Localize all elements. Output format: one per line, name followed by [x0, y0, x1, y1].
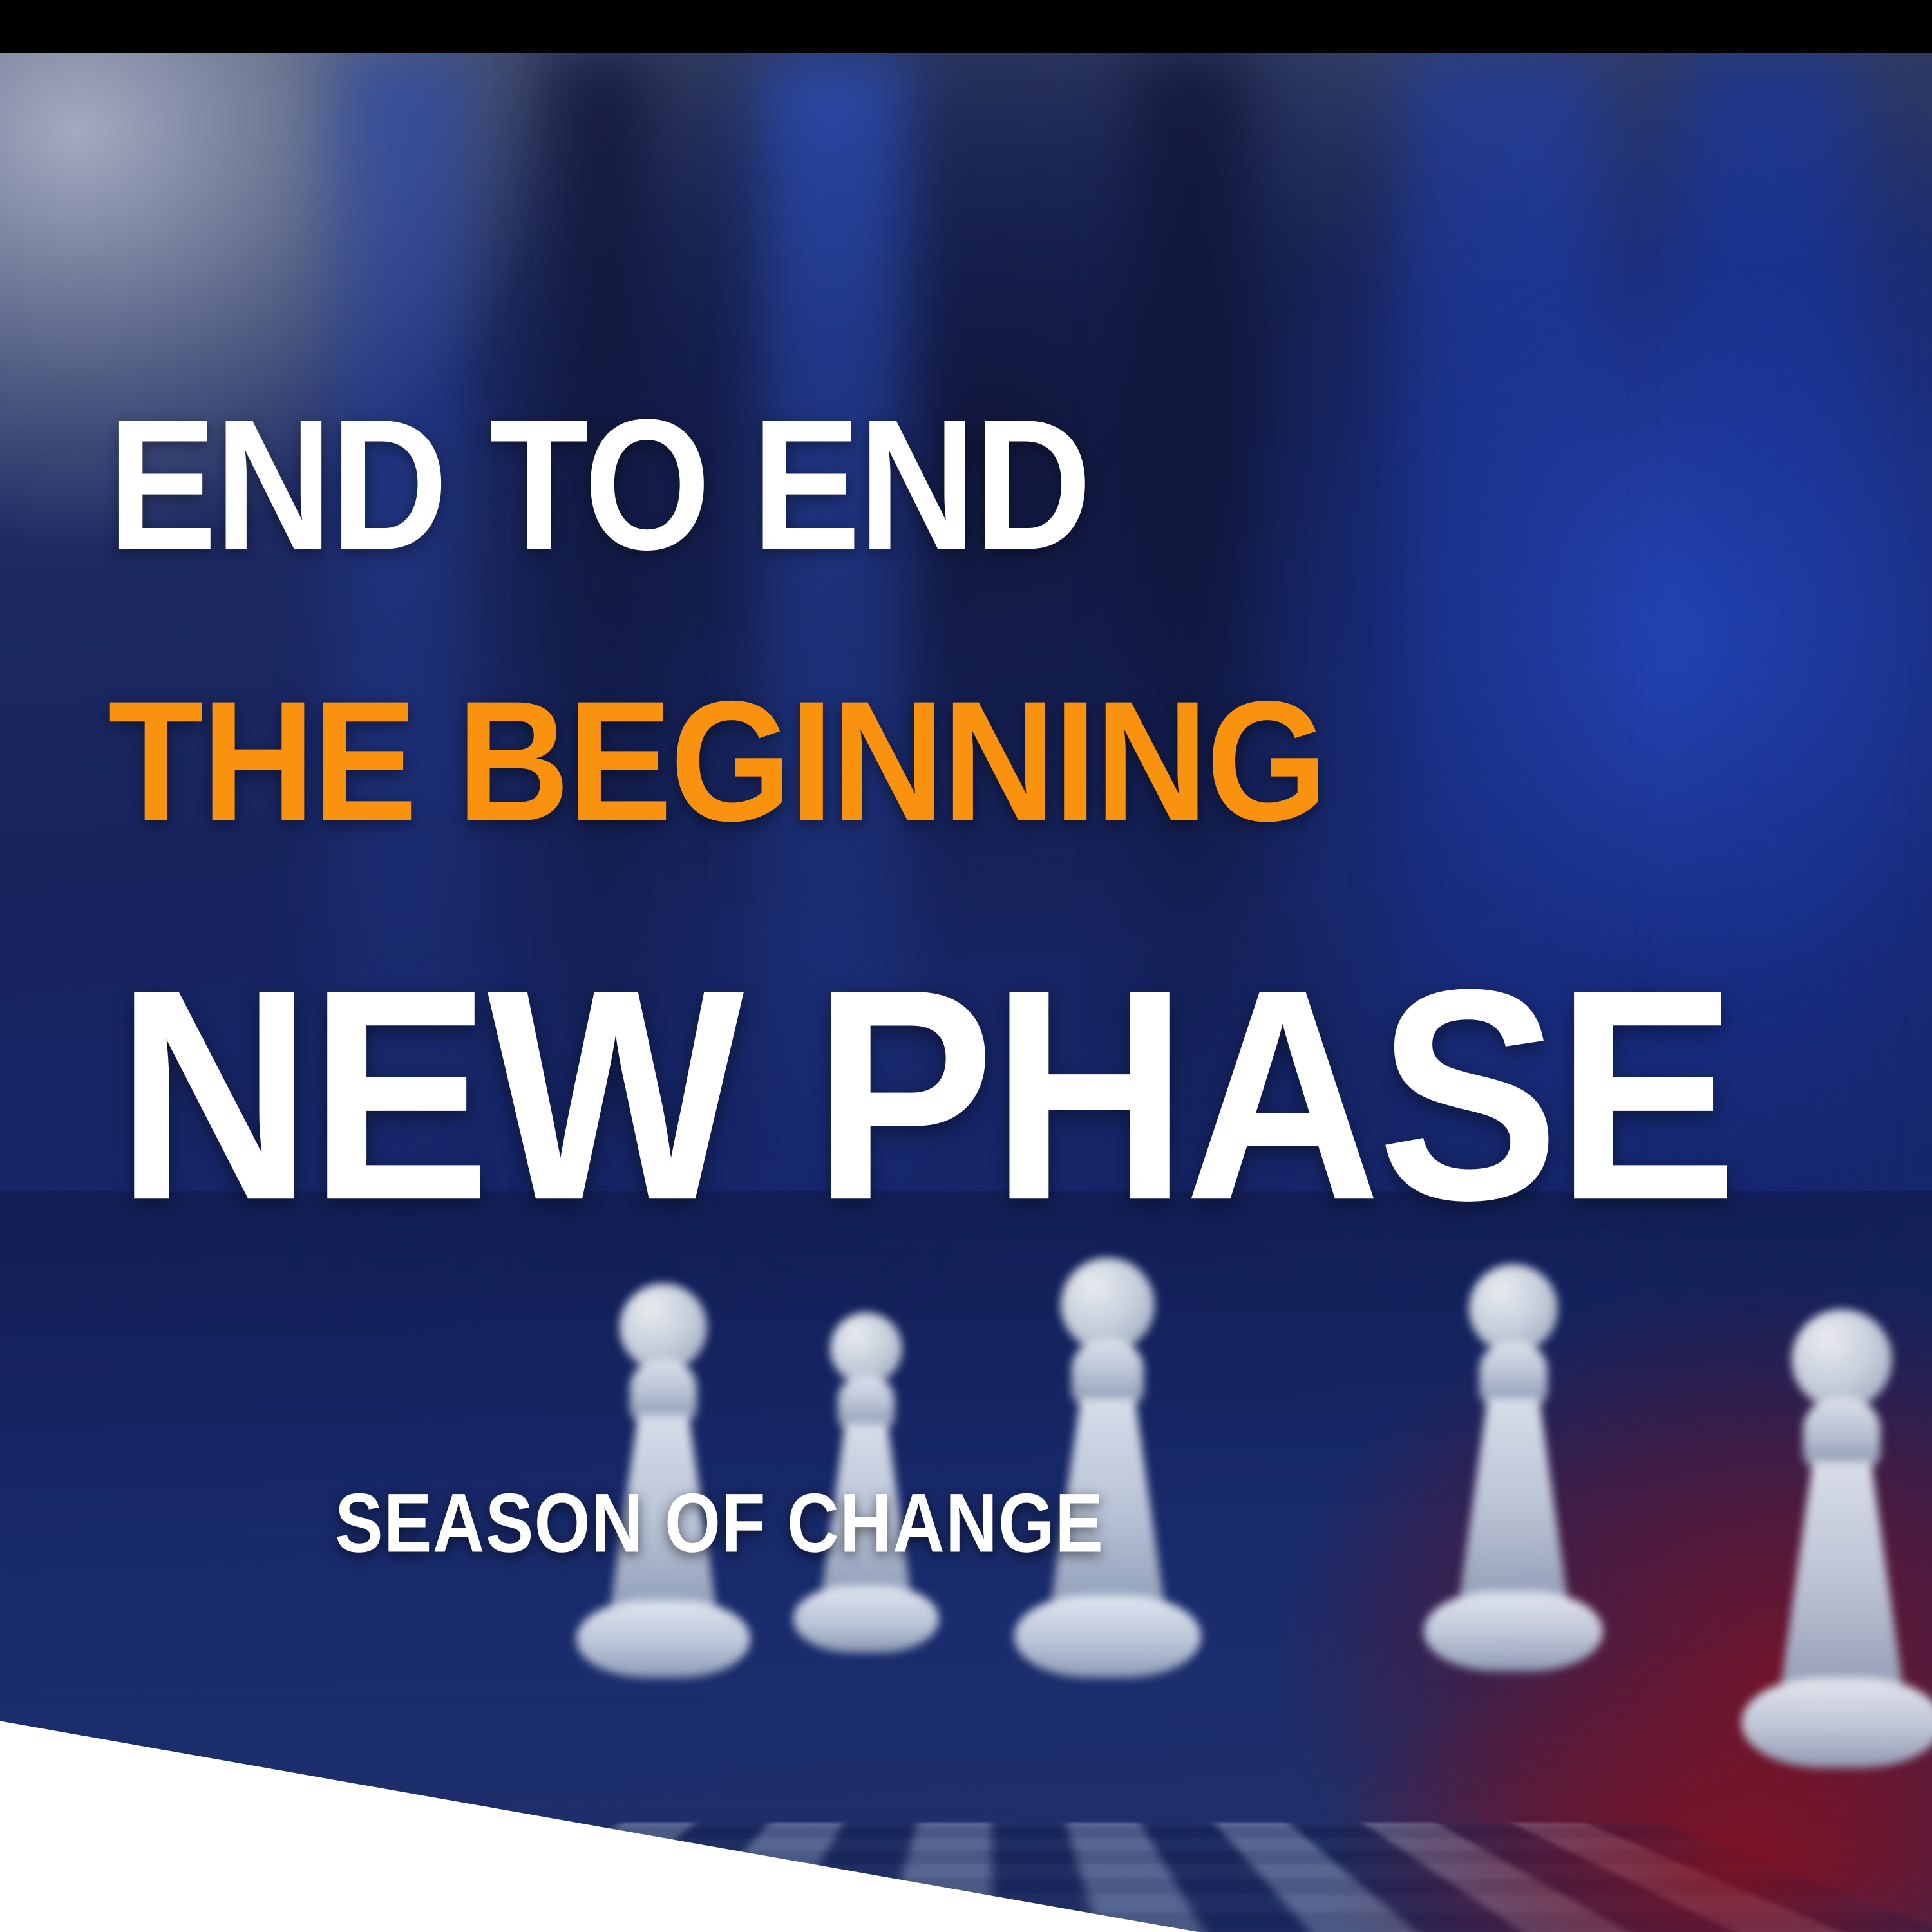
subtitle-text: SEASON OF CHANGE — [335, 1475, 1104, 1571]
chess-pawn — [1005, 1258, 1211, 1683]
background-streak — [1404, 53, 1597, 1277]
letterbox-bar — [0, 0, 1932, 53]
background-streak — [335, 53, 470, 1277]
background-streak — [1687, 53, 1855, 1277]
chess-pawn — [1417, 1264, 1610, 1676]
background-streak — [554, 53, 650, 1277]
title-card-slide: END TO END THE BEGINNING NEW PHASE SEASO… — [0, 0, 1932, 1932]
background-photo — [0, 53, 1932, 1932]
background-streak — [760, 53, 908, 1277]
chess-pawn — [1732, 1309, 1932, 1773]
background-streak — [1133, 53, 1249, 1277]
